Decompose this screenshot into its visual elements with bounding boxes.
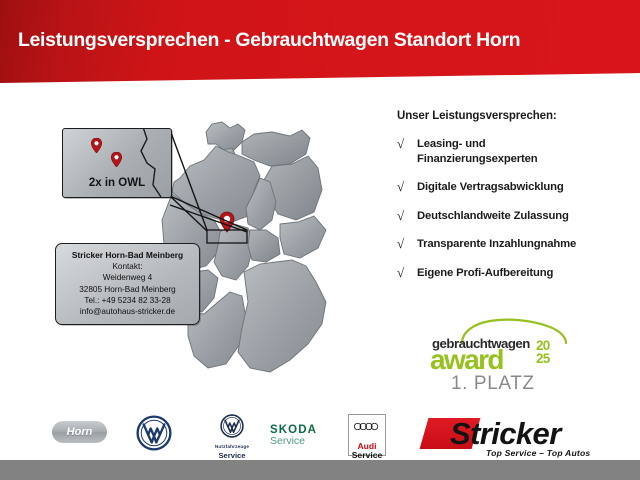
promise-list: Unser Leistungsversprechen: √ Leasing- u… [397,110,632,294]
audi-service-logo: Audi Service [348,414,386,456]
check-icon: √ [397,266,417,280]
vw-nutzfahrzeuge-logo: Nutzfahrzeuge Service [203,414,261,460]
award-badge: gebrauchtwagen award 20 25 1. PLATZ [424,318,574,396]
address-line: Weidenweg 4 [60,272,195,283]
page-title: Leistungsversprechen - Gebrauchtwagen St… [18,29,520,52]
list-item: √ Leasing- und Finanzierungsexperten [397,137,632,166]
owl-inset-box: 2x in OWL [62,128,172,198]
vw-logo-icon [220,414,244,438]
promise-title: Unser Leistungsversprechen: [397,110,632,122]
slide-canvas: Leistungsversprechen - Gebrauchtwagen St… [0,0,640,480]
owl-pin-2 [111,152,122,167]
promise-item-label: Transparente Inzahlungnahme [417,237,576,252]
list-item: √ Deutschlandweite Zulassung [397,209,632,224]
promise-item-label: Leasing- und Finanzierungsexperten [417,137,538,166]
address-box: Stricker Horn-Bad Meinberg Kontakt: Weid… [55,243,200,325]
skoda-service-logo: SKODA Service [270,424,332,447]
list-item: √ Eigene Profi-Aufbereitung [397,266,632,281]
promise-item-label: Deutschlandweite Zulassung [417,209,569,224]
address-line: Stricker Horn-Bad Meinberg [60,250,195,261]
stricker-logo: Stricker Top Service – Top Autos [424,412,629,460]
promise-item-label: Eigene Profi-Aufbereitung [417,266,553,281]
vw-nutzfahrzeuge-line1: Nutzfahrzeuge [203,444,261,449]
skoda-service-label: Service [270,435,332,447]
list-item: √ Digitale Vertragsabwicklung [397,180,632,195]
check-icon: √ [397,137,417,151]
audi-rings-icon [353,422,381,431]
check-icon: √ [397,180,417,194]
address-line: Tel.: +49 5234 82 33-28 [60,295,195,306]
award-rank: 1. PLATZ [451,373,535,395]
check-icon: √ [397,209,417,223]
address-line: Kontakt: [60,261,195,272]
stricker-tagline: Top Service – Top Autos [486,448,590,458]
check-icon: √ [397,237,417,251]
audi-service-label: Service [349,450,385,460]
stricker-wordmark: Stricker [450,416,561,452]
vw-logo-icon [136,415,172,451]
footer-bar [0,460,640,480]
award-main-word: award [430,344,503,376]
award-year-bottom: 25 [536,351,549,366]
owl-pin-1 [91,138,102,153]
vw-nutzfahrzeuge-line2: Service [203,451,261,460]
owl-inset-label: 2x in OWL [63,177,171,189]
promise-item-label: Digitale Vertragsabwicklung [417,180,564,195]
horn-badge: Horn [52,421,107,443]
list-item: √ Transparente Inzahlungnahme [397,237,632,252]
horn-badge-label: Horn [67,426,93,438]
address-line: 32805 Horn-Bad Meinberg [60,284,195,295]
address-line: info@autohaus-stricker.de [60,306,195,317]
